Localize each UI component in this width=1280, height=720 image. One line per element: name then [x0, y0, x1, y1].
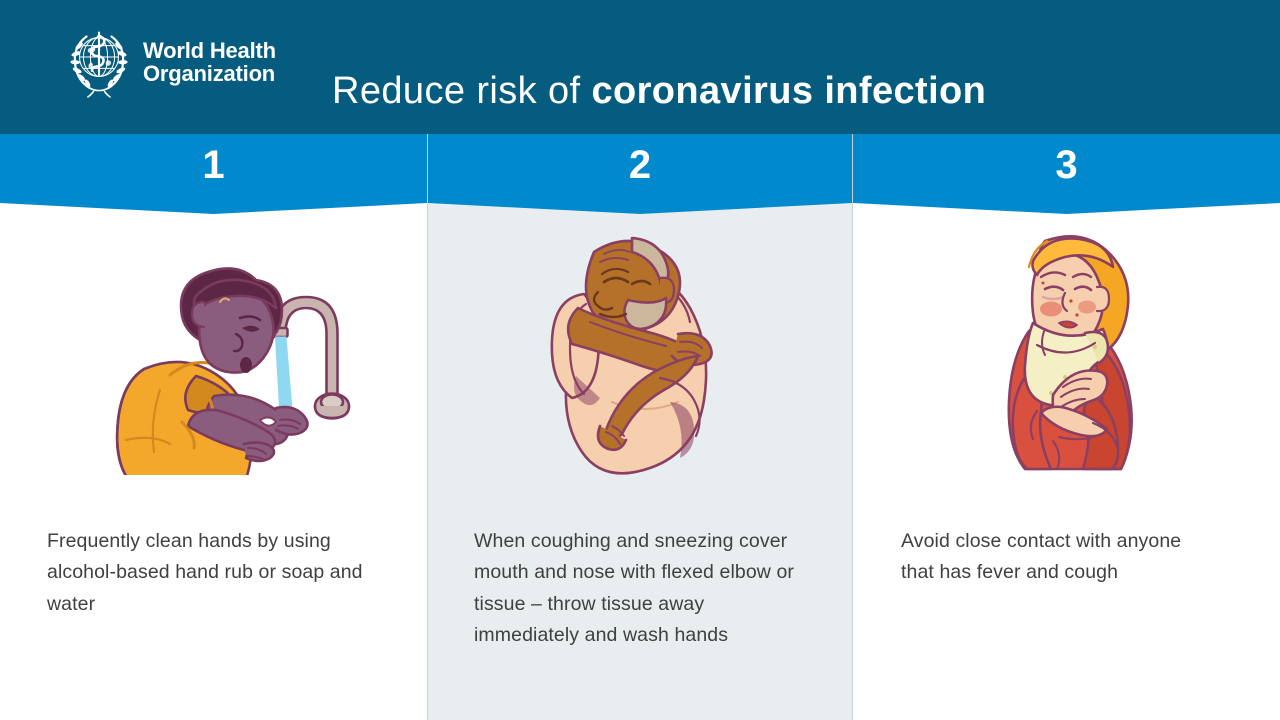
- advice-column-2: 2: [427, 134, 853, 720]
- poster-header: World Health Organization Reduce risk of…: [0, 0, 1280, 134]
- who-wordmark: World Health Organization: [143, 40, 276, 86]
- step-banner-3: 3: [853, 134, 1280, 214]
- advice-caption-1: Frequently clean hands by using alcohol-…: [47, 526, 377, 621]
- step-banner-1: 1: [0, 134, 427, 214]
- banner-chevron-shape-1: [0, 134, 427, 214]
- who-logo: World Health Organization: [66, 26, 276, 100]
- advice-caption-3: Avoid close contact with anyone that has…: [901, 526, 1201, 589]
- advice-columns: 1: [0, 134, 1280, 720]
- advice-caption-2: When coughing and sneezing cover mouth a…: [474, 526, 799, 652]
- cough-into-elbow-illustration: [428, 216, 852, 488]
- sick-person-figure-icon: [967, 227, 1167, 477]
- page-title-prefix: Reduce risk of: [332, 70, 591, 112]
- page-title: Reduce risk of coronavirus infection: [332, 70, 986, 113]
- advice-column-3: 3: [853, 134, 1280, 720]
- avoid-close-contact-illustration: [853, 216, 1280, 488]
- advice-column-1: 1: [0, 134, 427, 720]
- handwashing-illustration: [0, 216, 427, 488]
- who-wordmark-line-1: World Health: [143, 40, 276, 63]
- cough-elbow-figure-icon: [520, 230, 760, 475]
- step-number-3: 3: [853, 145, 1280, 185]
- step-banner-2: 2: [428, 134, 852, 214]
- page-title-accent: coronavirus infection: [591, 70, 986, 112]
- banner-chevron-shape-2: [428, 134, 852, 214]
- step-number-1: 1: [0, 145, 427, 185]
- step-number-2: 2: [428, 145, 852, 185]
- banner-chevron-shape-3: [853, 134, 1280, 214]
- who-wordmark-line-2: Organization: [143, 63, 276, 86]
- who-emblem-icon: [66, 26, 132, 100]
- handwashing-figure-icon: [64, 230, 364, 475]
- who-coronavirus-prevention-poster: World Health Organization Reduce risk of…: [0, 0, 1280, 720]
